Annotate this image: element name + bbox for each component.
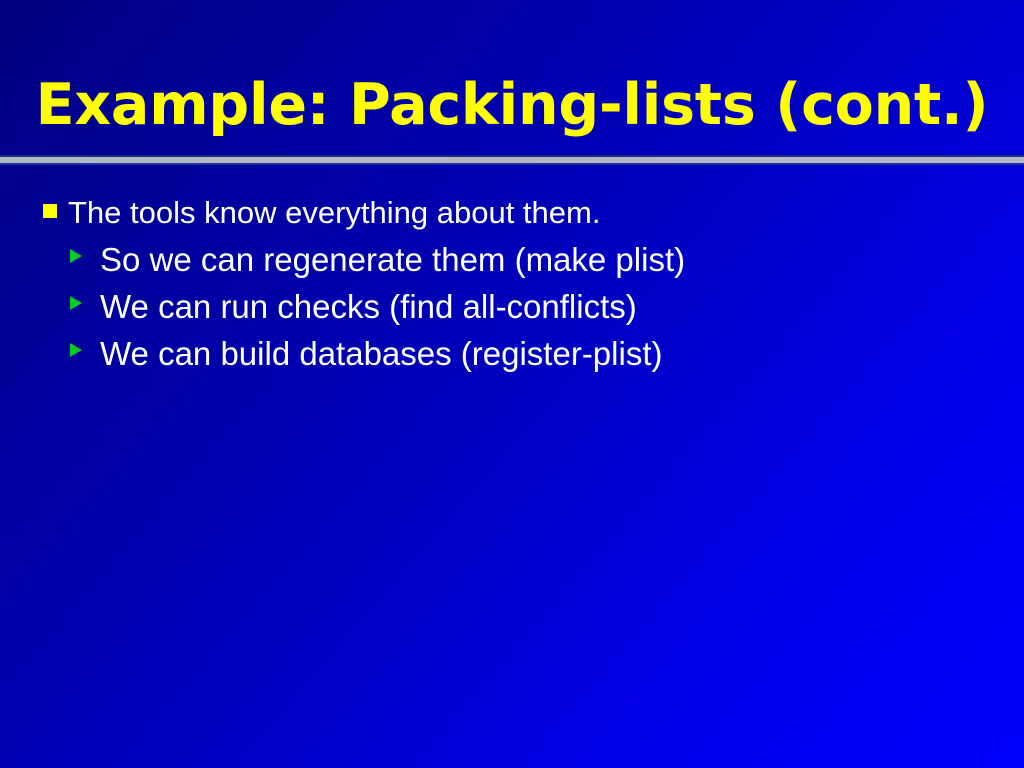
list-item: So we can regenerate them (make plist) xyxy=(0,236,1024,283)
slide-body-list: The tools know everything about them. So… xyxy=(0,193,1024,377)
triangle-bullet-icon xyxy=(70,330,100,357)
list-item-label: The tools know everything about them. xyxy=(68,193,600,233)
list-item: The tools know everything about them. xyxy=(0,193,1024,233)
divider-bottom-edge xyxy=(0,163,1024,165)
list-item: We can run checks (find all-conflicts) xyxy=(0,283,1024,330)
triangle-bullet-icon xyxy=(70,283,100,310)
triangle-bullet-icon xyxy=(70,236,100,263)
square-bullet-icon xyxy=(43,193,68,218)
list-item-label: We can run checks (find all-conflicts) xyxy=(100,283,637,330)
list-item-label: We can build databases (register-plist) xyxy=(100,330,662,377)
presentation-slide: Example: Packing-lists (cont.) The tools… xyxy=(0,0,1024,768)
title-divider xyxy=(0,155,1024,165)
slide-title-block: Example: Packing-lists (cont.) xyxy=(0,72,1024,138)
page-title: Example: Packing-lists (cont.) xyxy=(0,72,1024,138)
list-item-label: So we can regenerate them (make plist) xyxy=(100,236,685,283)
list-item: We can build databases (register-plist) xyxy=(0,330,1024,377)
